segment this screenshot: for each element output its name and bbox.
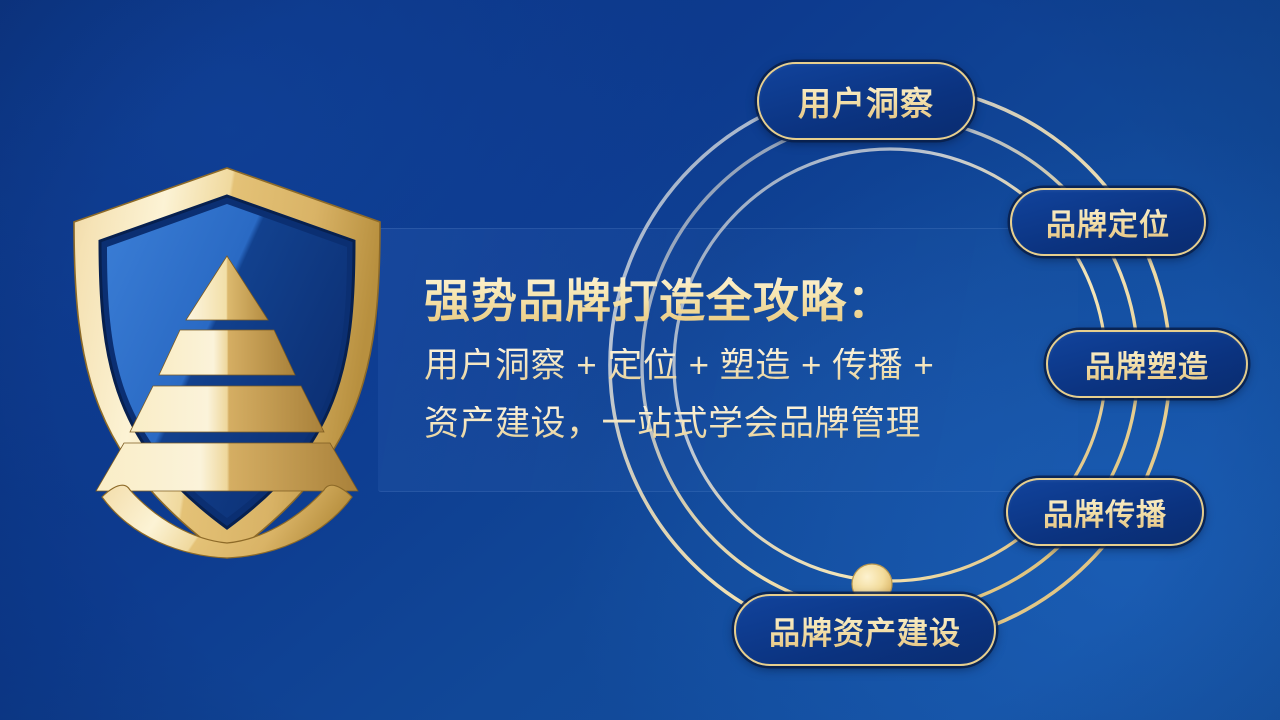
cycle-node-label: 品牌传播: [1043, 490, 1167, 534]
cycle-node-label: 品牌资产建设: [769, 608, 961, 653]
subtitle-line-2: 资产建设，一站式学会品牌管理: [424, 406, 921, 441]
cycle-node-label: 用户洞察: [798, 77, 934, 125]
cycle-node-user-insight[interactable]: 用户洞察: [757, 62, 975, 140]
cycle-node-label: 品牌定位: [1046, 200, 1170, 244]
cycle-node-brand-positioning[interactable]: 品牌定位: [1010, 188, 1206, 256]
cycle-node-label: 品牌塑造: [1085, 342, 1209, 386]
cycle-node-brand-asset-building[interactable]: 品牌资产建设: [734, 594, 996, 666]
page-title: 强势品牌打造全攻略：: [424, 274, 894, 328]
poster-canvas: 用户洞察 品牌定位 品牌塑造 品牌传播 品牌资产建设 强势品牌打造全攻略： 用户…: [0, 0, 1280, 720]
shield-pyramid-emblem: [62, 160, 392, 565]
subtitle-line-1: 用户洞察 + 定位 + 塑造 + 传播 +: [424, 348, 934, 383]
cycle-node-brand-shaping[interactable]: 品牌塑造: [1046, 330, 1248, 398]
cycle-node-brand-communication[interactable]: 品牌传播: [1006, 478, 1204, 546]
